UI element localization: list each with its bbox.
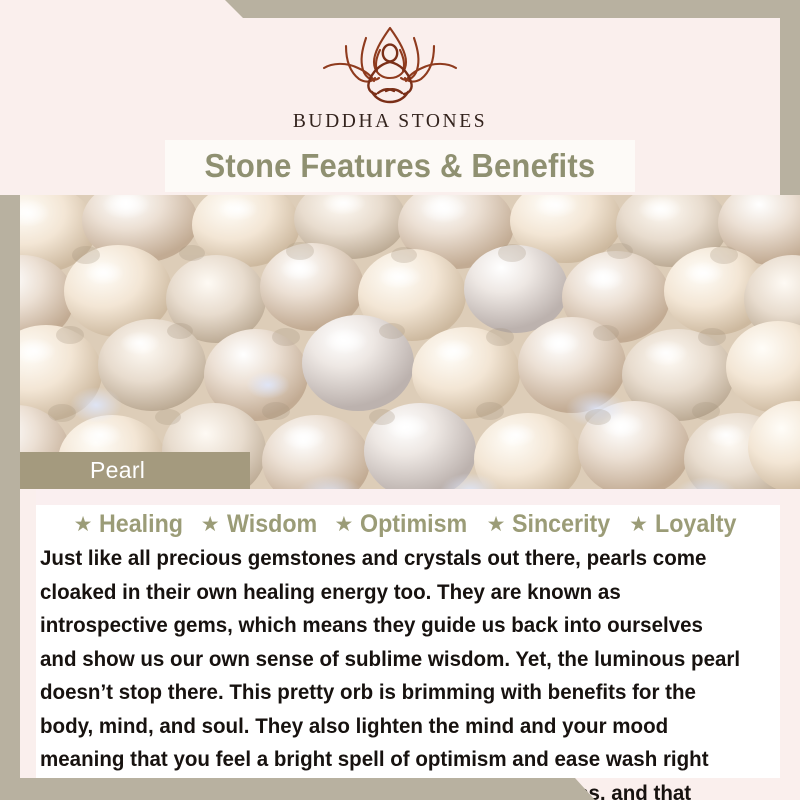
star-icon: ★ (335, 514, 354, 535)
frame-accent-left (0, 195, 20, 800)
page-title: Stone Features & Benefits (205, 147, 596, 185)
keyword-label: Optimism (360, 510, 467, 539)
keyword-item-sincerity: ★ Sincerity (476, 510, 618, 539)
star-icon: ★ (74, 514, 93, 535)
title-panel: Stone Features & Benefits (165, 140, 635, 192)
frame-accent-top-right (0, 0, 800, 20)
brand-wordmark: BUDDHA STONES (293, 111, 487, 133)
frame-accent-right (780, 0, 800, 200)
keyword-item-loyalty: ★ Loyalty (618, 510, 742, 539)
stone-name-label: Pearl (20, 457, 145, 484)
keyword-item-wisdom: ★ Wisdom (190, 510, 324, 539)
content-card: ★ Healing ★ Wisdom ★ Optimism ★ Sincerit… (36, 489, 780, 778)
pearls-illustration (0, 195, 800, 489)
star-icon: ★ (629, 514, 648, 535)
description-paragraph: Just like all precious gemstones and cry… (40, 542, 743, 800)
stone-benefits-poster: BUDDHA STONES Stone Features & Benefits (0, 0, 800, 800)
keyword-label: Healing (99, 510, 183, 539)
stone-name-banner: Pearl (20, 452, 250, 489)
keyword-item-optimism: ★ Optimism (324, 510, 476, 539)
keyword-label: Sincerity (512, 510, 610, 539)
keyword-label: Wisdom (227, 510, 317, 539)
brand-logo-block: BUDDHA STONES (0, 22, 780, 140)
star-icon: ★ (201, 514, 220, 535)
card-top-tint (36, 489, 780, 505)
keyword-item-healing: ★ Healing (74, 510, 190, 539)
keyword-label: Loyalty (655, 510, 736, 539)
lotus-meditation-figure-icon (310, 22, 470, 110)
star-icon: ★ (487, 514, 506, 535)
hero-photo (0, 195, 800, 489)
keyword-list: ★ Healing ★ Wisdom ★ Optimism ★ Sincerit… (36, 510, 780, 539)
